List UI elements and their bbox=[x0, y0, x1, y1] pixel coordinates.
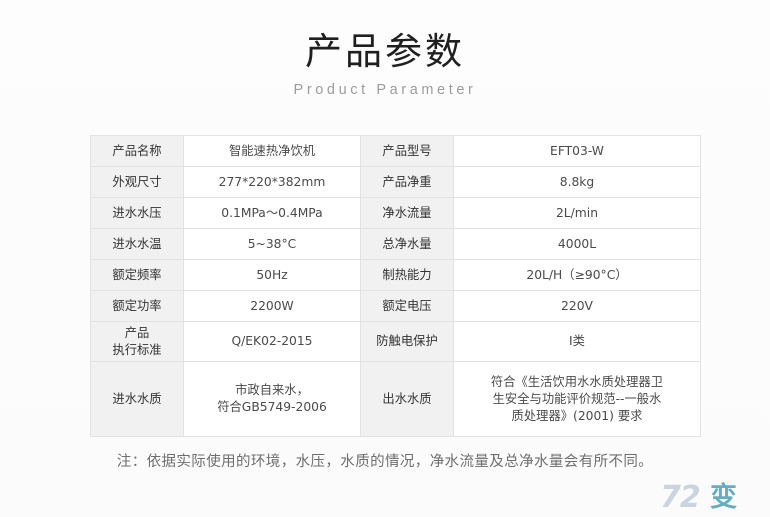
table-row: 产品名称 智能速热净饮机 产品型号 EFT03-W bbox=[91, 136, 701, 167]
spec-label: 产品 执行标准 bbox=[91, 322, 184, 362]
table-row: 额定功率 2200W 额定电压 220V bbox=[91, 291, 701, 322]
spec-value: 50Hz bbox=[184, 260, 361, 291]
page-header: 产品参数 Product Parameter bbox=[0, 30, 770, 99]
spec-value: 4000L bbox=[454, 229, 701, 260]
spec-value: Ⅰ类 bbox=[454, 322, 701, 362]
table-row: 额定频率 50Hz 制热能力 20L/H（≥90°C） bbox=[91, 260, 701, 291]
spec-label: 进水水质 bbox=[91, 362, 184, 437]
spec-value: 8.8kg bbox=[454, 167, 701, 198]
spec-label: 出水水质 bbox=[361, 362, 454, 437]
spec-value: 5~38°C bbox=[184, 229, 361, 260]
spec-label: 产品型号 bbox=[361, 136, 454, 167]
page-title: 产品参数 bbox=[0, 30, 770, 74]
spec-value: 市政自来水， 符合GB5749-2006 bbox=[184, 362, 361, 437]
spec-value: 277*220*382mm bbox=[184, 167, 361, 198]
spec-value-line: 市政自来水， bbox=[188, 382, 356, 399]
spec-value-line: 符合GB5749-2006 bbox=[188, 399, 356, 416]
spec-value: 2L/min bbox=[454, 198, 701, 229]
page-subtitle: Product Parameter bbox=[0, 81, 770, 99]
spec-value: 符合《生活饮用水水质处理器卫 生安全与功能评价规范--一般水 质处理器》(200… bbox=[454, 362, 701, 437]
spec-value: 0.1MPa～0.4MPa bbox=[184, 198, 361, 229]
spec-label: 额定功率 bbox=[91, 291, 184, 322]
spec-label: 额定频率 bbox=[91, 260, 184, 291]
table-row: 进水水压 0.1MPa～0.4MPa 净水流量 2L/min bbox=[91, 198, 701, 229]
spec-label: 额定电压 bbox=[361, 291, 454, 322]
spec-label: 进水水温 bbox=[91, 229, 184, 260]
table-row: 产品 执行标准 Q/EK02-2015 防触电保护 Ⅰ类 bbox=[91, 322, 701, 362]
spec-value: 20L/H（≥90°C） bbox=[454, 260, 701, 291]
spec-label: 净水流量 bbox=[361, 198, 454, 229]
spec-value: EFT03-W bbox=[454, 136, 701, 167]
footnote: 注：依据实际使用的环境，水压，水质的情况，净水流量及总净水量会有所不同。 bbox=[0, 450, 770, 471]
watermark-char: 变 bbox=[710, 483, 737, 513]
spec-label: 产品名称 bbox=[91, 136, 184, 167]
spec-value-line: 质处理器》(2001) 要求 bbox=[458, 408, 696, 425]
table-row: 进水水质 市政自来水， 符合GB5749-2006 出水水质 符合《生活饮用水水… bbox=[91, 362, 701, 437]
spec-value: 220V bbox=[454, 291, 701, 322]
spec-value-line: 符合《生活饮用水水质处理器卫 bbox=[458, 374, 696, 391]
spec-value: 2200W bbox=[184, 291, 361, 322]
product-parameter-page: 产品参数 Product Parameter 产品名称 智能速热净饮机 产品型号… bbox=[0, 0, 770, 517]
spec-label: 防触电保护 bbox=[361, 322, 454, 362]
specification-table: 产品名称 智能速热净饮机 产品型号 EFT03-W 外观尺寸 277*220*3… bbox=[90, 135, 701, 437]
table-row: 外观尺寸 277*220*382mm 产品净重 8.8kg bbox=[91, 167, 701, 198]
watermark-logo: 72 变 bbox=[658, 481, 762, 515]
table-row: 进水水温 5~38°C 总净水量 4000L bbox=[91, 229, 701, 260]
spec-value: 智能速热净饮机 bbox=[184, 136, 361, 167]
spec-label: 制热能力 bbox=[361, 260, 454, 291]
spec-label-line: 产品 bbox=[95, 325, 179, 342]
watermark-number: 72 bbox=[660, 482, 700, 514]
spec-value-line: 生安全与功能评价规范--一般水 bbox=[458, 391, 696, 408]
spec-label: 总净水量 bbox=[361, 229, 454, 260]
spec-label: 产品净重 bbox=[361, 167, 454, 198]
spec-label: 进水水压 bbox=[91, 198, 184, 229]
spec-label-line: 执行标准 bbox=[95, 342, 179, 359]
spec-value: Q/EK02-2015 bbox=[184, 322, 361, 362]
spec-label: 外观尺寸 bbox=[91, 167, 184, 198]
